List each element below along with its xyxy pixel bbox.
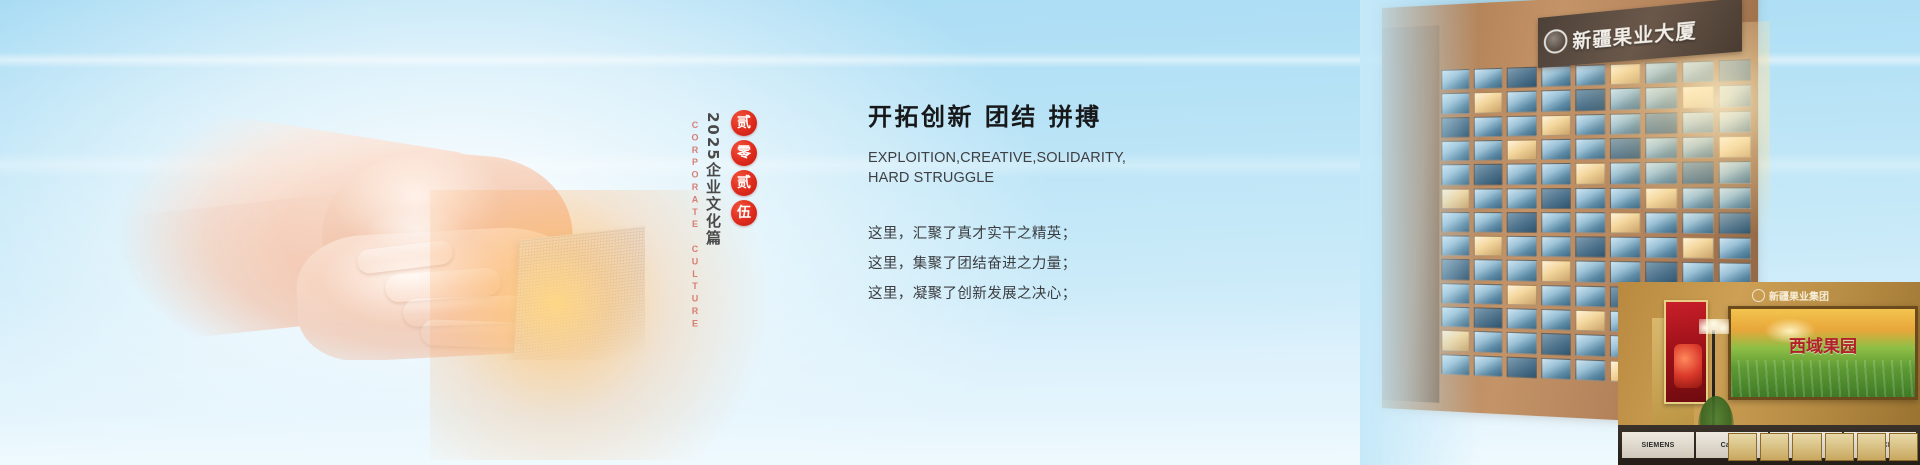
seal-icon: 零 <box>731 140 757 166</box>
year-seal-stack: 贰 零 贰 伍 <box>731 110 757 226</box>
company-logo-icon <box>1544 28 1568 54</box>
shop-bay <box>1728 433 1757 461</box>
vertical-english-label: CORPORATE CULTURE <box>690 120 700 331</box>
slogan-text-block: 开拓创新 团结 拼搏 EXPLOITION,CREATIVE,SOLIDARIT… <box>868 103 1168 309</box>
calligraphy-char: 诚 <box>245 130 392 293</box>
shop-bay <box>1889 433 1918 461</box>
slogan-body-line: 这里，集聚了团结奋进之力量； <box>868 249 1168 279</box>
calligraphy-char: 信 <box>382 116 543 274</box>
seal-icon: 贰 <box>731 170 757 196</box>
slogan-subhead: EXPLOITION,CREATIVE,SOLIDARITY, HARD STR… <box>868 148 1168 189</box>
company-logo-icon <box>1752 289 1765 302</box>
billboard-field-rows <box>1731 360 1915 397</box>
shop-bay <box>1792 433 1821 461</box>
building-photo: 新疆果业大厦 新疆果业集团 西域果园 SIEMENS Canon OSRAM B… <box>1360 0 1920 465</box>
slogan-headline: 开拓创新 团结 拼搏 <box>868 103 1168 132</box>
seal-icon: 伍 <box>731 200 757 226</box>
billboard-title: 西域果园 <box>1789 332 1857 357</box>
shop-bay <box>1760 433 1789 461</box>
slogan-body-line: 这里，汇聚了真才实干之精英； <box>868 219 1168 249</box>
shop-sign: SIEMENS <box>1622 432 1694 458</box>
slogan-body: 这里，汇聚了真才实干之精英； 这里，集聚了团结奋进之力量； 这里，凝聚了创新发展… <box>868 219 1168 309</box>
landscape-billboard: 西域果园 <box>1728 306 1918 400</box>
calligraphy-headline: 诚 信 合 作 <box>243 77 720 325</box>
podium-shop-bays <box>1728 433 1918 461</box>
podium-logo-text: 新疆果业集团 <box>1769 288 1829 303</box>
tower-side-face <box>1382 25 1439 402</box>
podium-logo: 新疆果业集团 <box>1752 288 1829 303</box>
slogan-body-line: 这里，凝聚了创新发展之决心； <box>868 279 1168 309</box>
slogan-subhead-line: HARD STRUGGLE <box>868 168 1168 189</box>
shop-bay <box>1857 433 1886 461</box>
corporate-culture-banner: 诚 信 合 作 CORPORATE CULTURE 2025企业文化篇 贰 零 … <box>0 0 1920 465</box>
vertical-side-column: CORPORATE CULTURE 2025企业文化篇 贰 零 贰 伍 <box>690 96 757 336</box>
calligraphy-char: 合 <box>532 124 679 288</box>
shop-bay <box>1825 433 1854 461</box>
vertical-chinese-label: 2025企业文化篇 <box>703 112 724 247</box>
seal-icon: 贰 <box>731 110 757 136</box>
slogan-subhead-line: EXPLOITION,CREATIVE,SOLIDARITY, <box>868 148 1168 169</box>
rooftop-sign-text: 新疆果业大厦 <box>1572 14 1697 53</box>
vertical-poster <box>1664 300 1708 404</box>
